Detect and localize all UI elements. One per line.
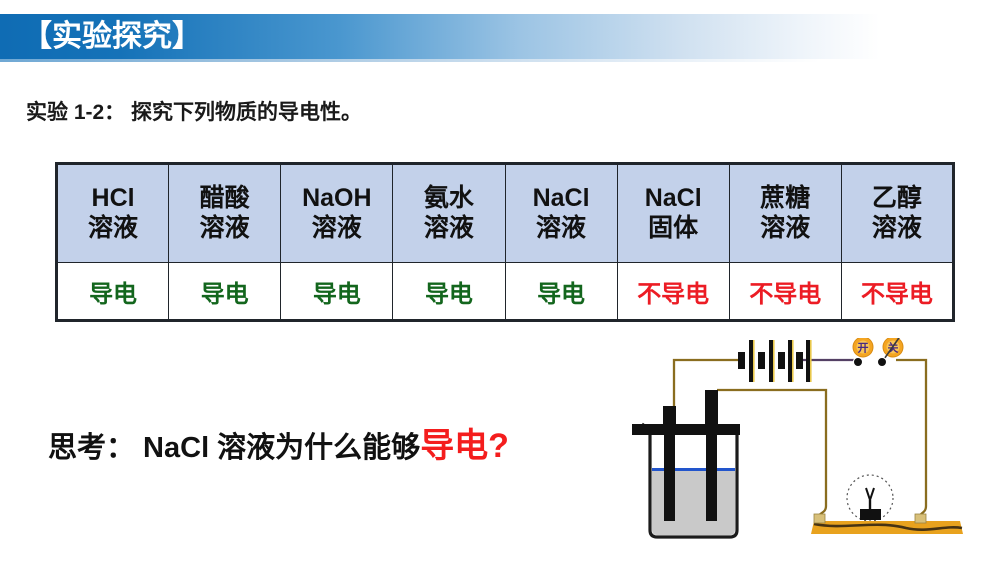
result-value: 导电 <box>313 281 361 308</box>
substance-state: 溶液 <box>730 214 841 244</box>
beaker-assembly <box>632 390 740 537</box>
substance-name: NaCl <box>506 184 617 214</box>
substance-name: 氨水 <box>393 184 504 214</box>
table-result-cell: 导电 <box>393 263 505 321</box>
substance-name: 乙醇 <box>842 184 952 214</box>
switch-contact-right <box>877 357 886 366</box>
substance-name: HCl <box>58 184 168 214</box>
experiment-subheading: 实验 1-2： 探究下列物质的导电性。 <box>26 96 362 126</box>
substance-name: NaOH <box>281 184 392 214</box>
electrode-support-bar <box>632 424 740 435</box>
question-highlight: 导电? <box>420 427 509 465</box>
table-header-cell: 蔗糖 溶液 <box>729 164 841 263</box>
substance-state: 溶液 <box>58 214 168 244</box>
wire-switch-to-lamp <box>896 360 926 522</box>
result-value: 导电 <box>201 281 249 308</box>
question-prefix: 思考： NaCl 溶液为什么能够 <box>48 432 420 464</box>
bulb-filament <box>866 488 874 500</box>
substance-state: 溶液 <box>281 214 392 244</box>
switch-contact-left <box>853 357 862 366</box>
slide-root: 【实验探究】 实验 1-2： 探究下列物质的导电性。 HCl 溶液 醋酸 溶液 … <box>0 0 1000 563</box>
table-result-row: 导电 导电 导电 导电 导电 不导电 不导电 <box>57 263 954 321</box>
lamp-assembly <box>811 475 963 534</box>
substance-state: 固体 <box>618 214 729 244</box>
substance-state: 溶液 <box>506 214 617 244</box>
table-header-cell: NaOH 溶液 <box>281 164 393 263</box>
table-header-cell: NaCl 溶液 <box>505 164 617 263</box>
result-value: 不导电 <box>637 281 709 308</box>
table-result-cell: 不导电 <box>729 263 841 321</box>
circuit-switch[interactable]: 开 关 <box>853 338 903 367</box>
battery-symbol <box>738 340 812 382</box>
result-value: 不导电 <box>749 281 821 308</box>
table-header-cell: HCl 溶液 <box>57 164 169 263</box>
table-result-cell: 导电 <box>57 263 169 321</box>
thinking-question: 思考： NaCl 溶液为什么能够导电? <box>48 418 509 467</box>
substance-name: 醋酸 <box>169 184 280 214</box>
table-result-cell: 不导电 <box>841 263 953 321</box>
switch-open-label: 开 <box>858 342 869 355</box>
table-result-cell: 导电 <box>281 263 393 321</box>
table-result-cell: 导电 <box>505 263 617 321</box>
page-title: 【实验探究】 <box>22 14 202 59</box>
electrode-right-rod <box>706 428 717 521</box>
result-value: 导电 <box>425 281 473 308</box>
result-value: 导电 <box>537 281 585 308</box>
electrode-left-cap <box>663 406 676 428</box>
table-header-cell: NaCl 固体 <box>617 164 729 263</box>
terminal-left <box>814 514 825 523</box>
banner-underline <box>0 59 1000 62</box>
table-header-cell: 氨水 溶液 <box>393 164 505 263</box>
table-header-cell: 醋酸 溶液 <box>169 164 281 263</box>
electrode-left-rod <box>664 428 675 521</box>
table-header-row: HCl 溶液 醋酸 溶液 NaOH 溶液 氨水 溶液 NaCl 溶液 <box>57 164 954 263</box>
result-value: 不导电 <box>861 281 933 308</box>
terminal-right <box>915 514 926 523</box>
substance-state: 溶液 <box>169 214 280 244</box>
electrode-right-cap <box>705 390 718 428</box>
result-value: 导电 <box>89 281 137 308</box>
substance-name: NaCl <box>618 184 729 214</box>
conductivity-table: HCl 溶液 醋酸 溶液 NaOH 溶液 氨水 溶液 NaCl 溶液 <box>55 162 955 322</box>
table-result-cell: 导电 <box>169 263 281 321</box>
substance-name: 蔗糖 <box>730 184 841 214</box>
bulb-socket <box>860 509 881 520</box>
circuit-diagram: 开 关 <box>630 338 990 563</box>
substance-state: 溶液 <box>393 214 504 244</box>
table-header-cell: 乙醇 溶液 <box>841 164 953 263</box>
table-result-cell: 不导电 <box>617 263 729 321</box>
substance-state: 溶液 <box>842 214 952 244</box>
